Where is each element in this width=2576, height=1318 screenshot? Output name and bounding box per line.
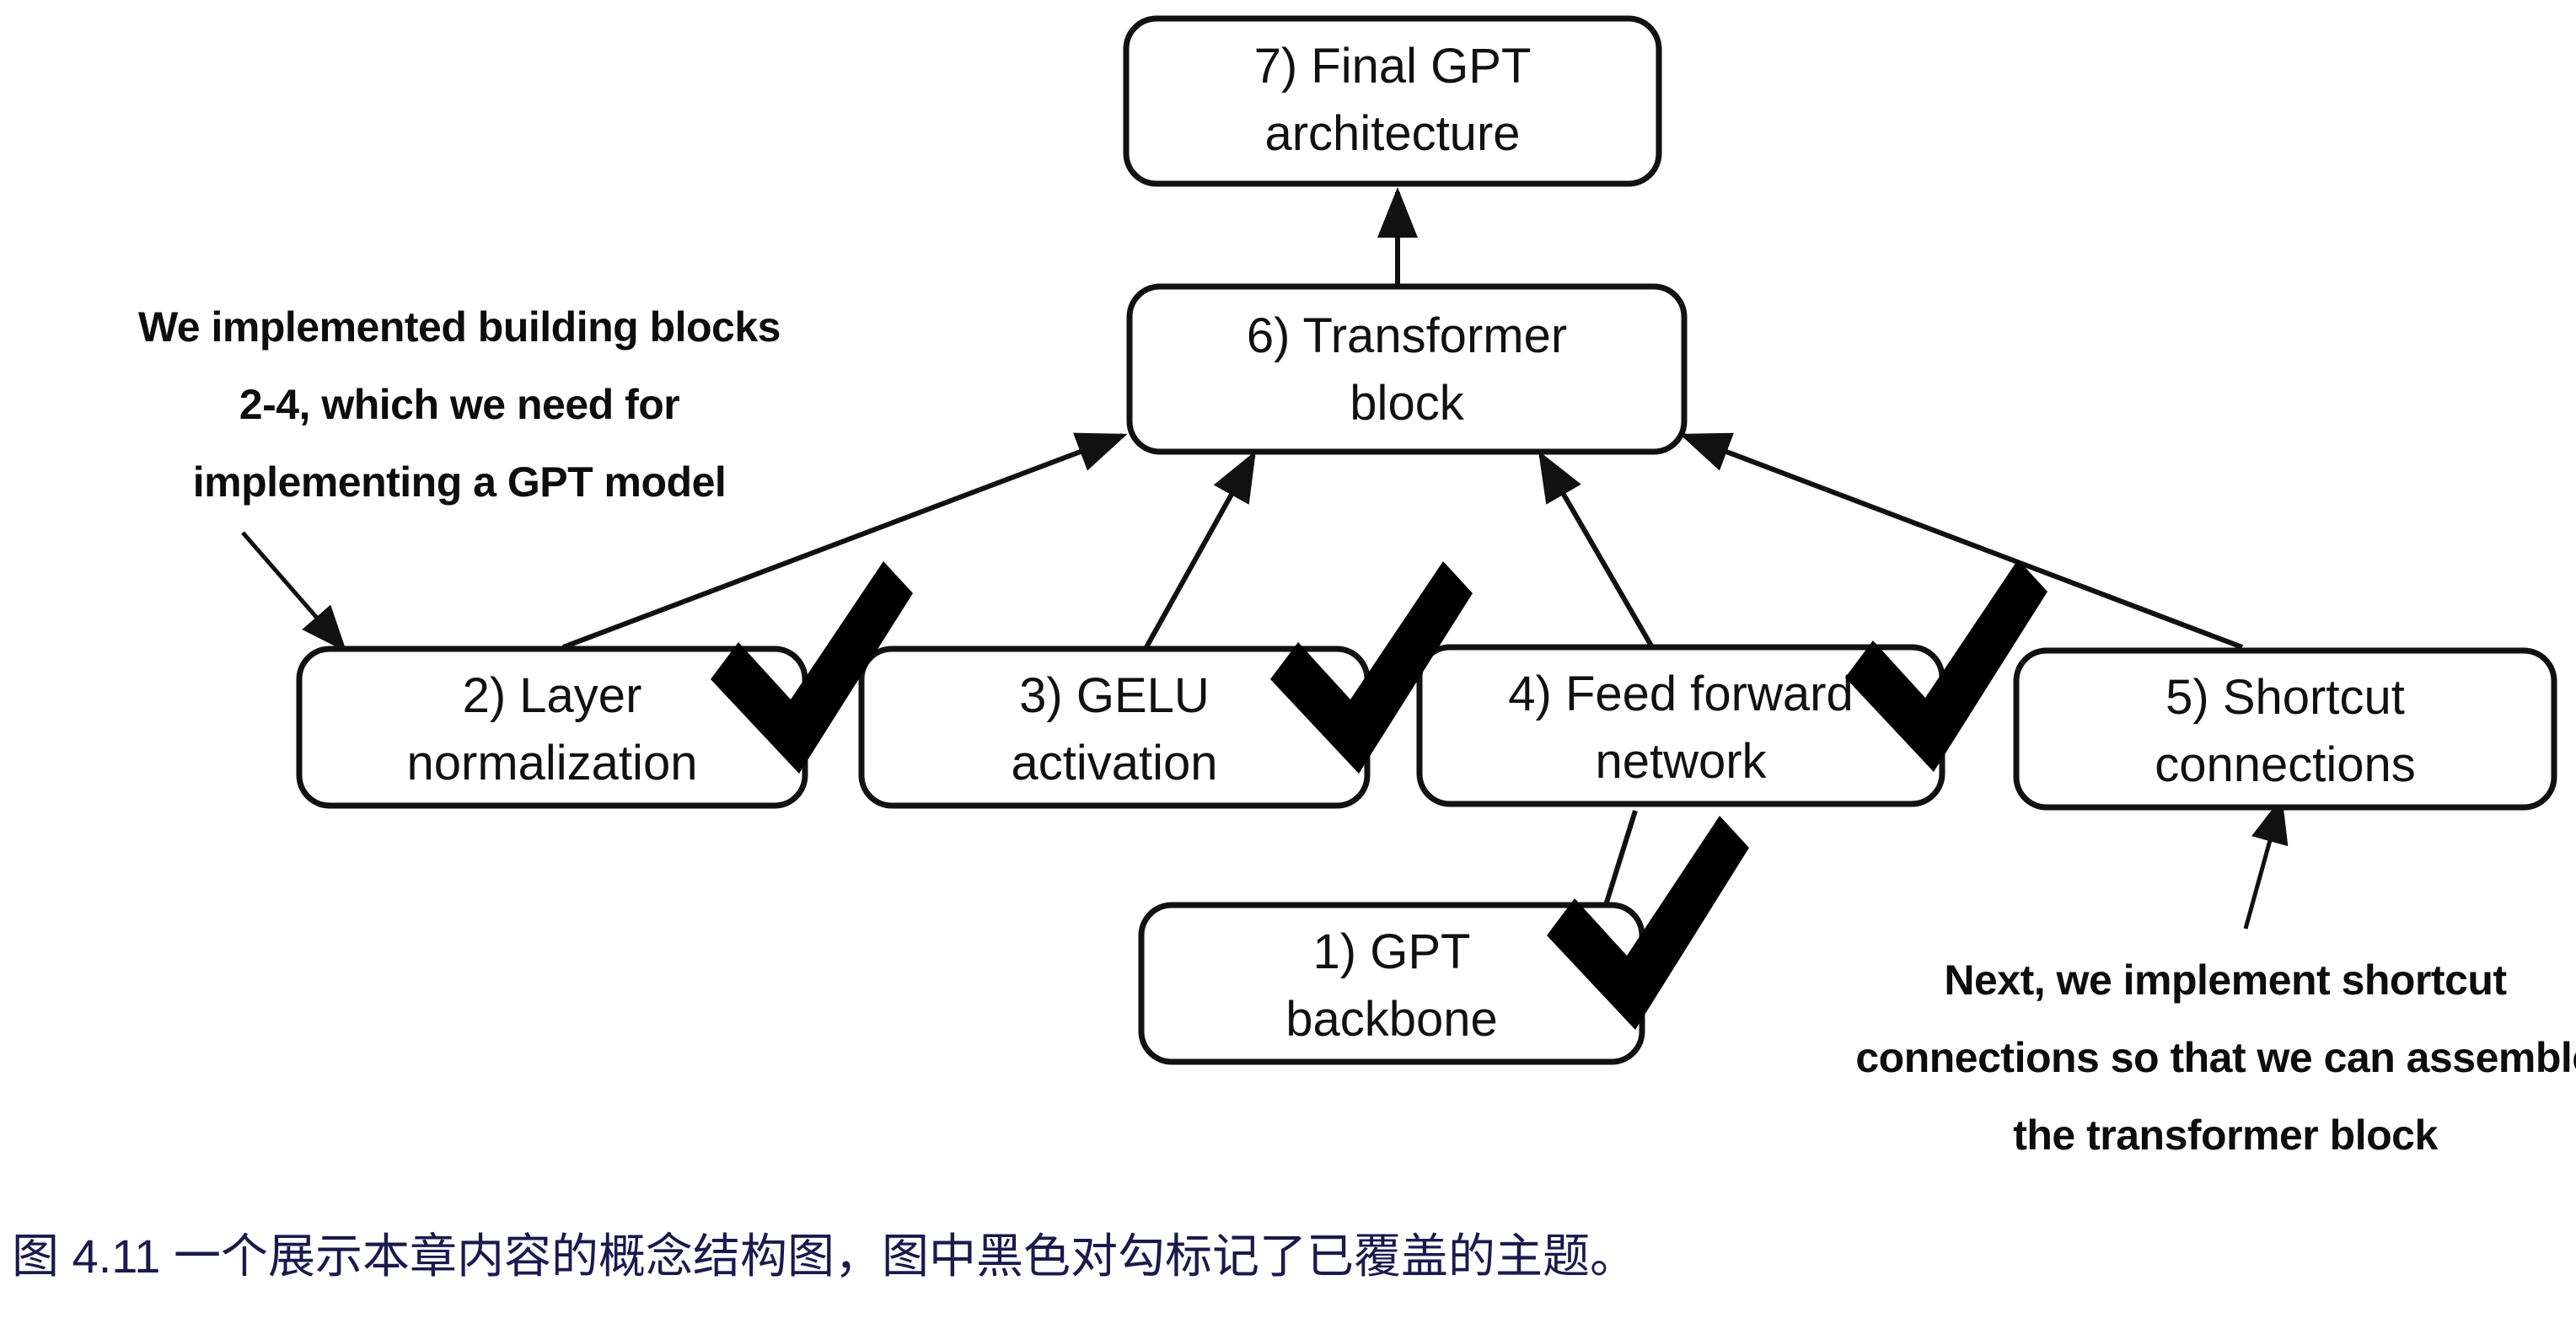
node-7-label-line1: 7) Final GPT (1254, 39, 1532, 94)
node-2-label-line1: 2) Layer (463, 668, 642, 723)
node-4-label-line2: network (1595, 734, 1767, 789)
node-7-label-line2: architecture (1264, 106, 1520, 161)
annotation-left-leader (243, 533, 344, 649)
node-3-label-line1: 3) GELU (1019, 668, 1210, 723)
annotation-right-leader (2246, 801, 2281, 929)
node-2-label-line2: normalization (407, 736, 698, 790)
edge-node3-to-node6 (1146, 455, 1253, 647)
node-transformer-block[interactable]: 6) Transformer block (1130, 287, 1684, 452)
annotation-left-line-2: 2-4, which we need for (239, 381, 679, 428)
annotation-left-line-1: We implemented building blocks (138, 303, 781, 351)
annotation-right-line-3: the transformer block (2013, 1112, 2438, 1159)
node-6-label-line1: 6) Transformer (1247, 308, 1567, 363)
figure-caption-text: 图 4.11 一个展示本章内容的概念结构图，图中黑色对勾标记了已覆盖的主题。 (12, 1230, 1637, 1283)
node-1-label-line1: 1) GPT (1313, 924, 1471, 979)
node-5-label-line2: connections (2155, 737, 2416, 792)
node-1-label-line2: backbone (1285, 992, 1498, 1047)
node-6-label-line2: block (1350, 376, 1464, 431)
edge-node5-to-node6 (1684, 436, 2242, 647)
annotation-right-line-2: connections so that we can assemble (1855, 1034, 2576, 1081)
node-4-label-line1: 4) Feed forward (1508, 667, 1853, 721)
annotation-left-line-3: implementing a GPT model (193, 458, 727, 506)
annotation-right-text: Next, we implement shortcut connections … (1855, 956, 2576, 1159)
edge-node4-to-node6 (1541, 455, 1652, 647)
node-5-label-line1: 5) Shortcut (2165, 670, 2405, 725)
node-final-gpt-architecture[interactable]: 7) Final GPT architecture (1126, 19, 1659, 184)
concept-diagram: 7) Final GPT architecture 6) Transformer… (0, 0, 2576, 1318)
figure-caption: 图 4.11 一个展示本章内容的概念结构图，图中黑色对勾标记了已覆盖的主题。 (12, 1230, 1637, 1283)
node-shortcut-connections[interactable]: 5) Shortcut connections (2016, 651, 2554, 807)
node-3-label-line2: activation (1011, 736, 1217, 790)
annotation-right-line-1: Next, we implement shortcut (1944, 956, 2507, 1004)
annotation-left-text: We implemented building blocks 2-4, whic… (138, 303, 781, 506)
figure-canvas: 7) Final GPT architecture 6) Transformer… (0, 0, 2576, 1318)
